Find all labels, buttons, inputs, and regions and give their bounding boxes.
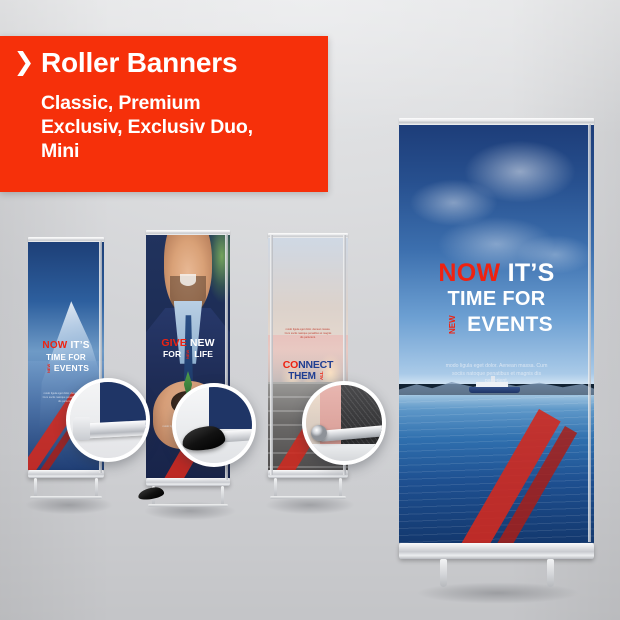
banner-headline-exclusiv: CONNECT THEMALL xyxy=(268,359,348,383)
header-subtitle-line-2: Exclusiv, Exclusiv Duo, xyxy=(41,115,326,139)
headline-word-now: NOW xyxy=(438,259,500,287)
headline-word-life: LIFE xyxy=(194,349,213,359)
ship-hull xyxy=(469,387,520,393)
headline-word-co: CO xyxy=(283,359,298,371)
top-rail xyxy=(399,118,594,125)
callout-cassette[interactable] xyxy=(66,378,150,462)
header-title-row: ❯ Roller Banners xyxy=(14,47,237,78)
sky-with-clouds xyxy=(399,125,594,384)
headline-word-now: NOW xyxy=(42,340,67,351)
base-cassette xyxy=(268,470,348,478)
headline-word-them: THEM xyxy=(288,371,316,382)
headline-line-time-for: TIME FOR xyxy=(399,287,594,312)
base-foot-bar xyxy=(270,496,346,499)
headline-vertical-new: NEW xyxy=(182,350,193,359)
base-foot-right xyxy=(221,486,224,506)
base-foot-left xyxy=(34,478,37,498)
banner-headline-large: NOW IT’S TIME FOR NEWEVENTS xyxy=(399,259,594,337)
page-title: Roller Banners xyxy=(41,47,237,78)
headline-word-give: GIVE xyxy=(161,337,187,349)
headline-word-events: EVENTS xyxy=(467,313,553,336)
header-subtitle-line-3: Mini xyxy=(41,139,326,163)
headline-line-time-for: TIME FOR xyxy=(28,352,104,363)
headline-word-its: IT’S xyxy=(508,259,555,287)
roller-banner-classic: NOW IT’S TIME FOR NEWEVENTS modo ligula … xyxy=(28,237,104,505)
base-foot-right xyxy=(95,478,98,498)
roller-banner-premium: GIVE NEW FORNEWLIFE modo ligula eget dol… xyxy=(146,230,230,512)
callout-black-foot[interactable] xyxy=(172,383,256,467)
base-foot-left xyxy=(274,478,277,498)
header-panel: ❯ Roller Banners Classic, Premium Exclus… xyxy=(0,36,328,192)
header-subtitle-line-1: Classic, Premium xyxy=(41,91,326,115)
roller-banner-product-image: ❯ Roller Banners Classic, Premium Exclus… xyxy=(0,0,620,620)
support-pole-left xyxy=(270,235,273,475)
base-foot-right xyxy=(339,478,342,498)
headline-vertical-all: ALL xyxy=(316,371,328,381)
base-cassette xyxy=(399,543,594,559)
banner-headline-classic: NOW IT’S TIME FOR NEWEVENTS xyxy=(28,340,104,374)
base-foot-bar xyxy=(148,504,228,507)
headline-vertical-new: NEW xyxy=(43,364,54,373)
base-foot-bar xyxy=(30,496,102,499)
callout-cassette-detail xyxy=(70,382,146,458)
base-cassette xyxy=(28,470,104,478)
banner-headline-premium: GIVE NEW FORNEWLIFE xyxy=(146,337,230,360)
callout-black-foot-detail xyxy=(176,387,252,463)
roller-banner-large: NOW IT’S TIME FOR NEWEVENTS modo ligula … xyxy=(399,118,594,588)
banner-body-text-large: modo ligula eget dolor. Aenean massa. Cu… xyxy=(399,363,594,386)
callout-floor xyxy=(306,444,382,461)
callout-chrome-foot[interactable] xyxy=(302,381,386,465)
headline-word-nnect: NNECT xyxy=(298,359,333,371)
headline-word-new: NEW xyxy=(190,337,215,349)
headline-vertical-new: NEW xyxy=(440,315,465,335)
header-subtitle: Classic, Premium Exclusiv, Exclusiv Duo,… xyxy=(41,91,326,163)
banner-artwork-large: NOW IT’S TIME FOR NEWEVENTS modo ligula … xyxy=(399,125,594,543)
base-cassette xyxy=(146,478,230,486)
base-foot-right xyxy=(547,559,554,587)
callout-navy-artwork xyxy=(209,387,252,429)
banner-body-text-exclusiv: modo ligula eget dolor. Aenean massa. Cu… xyxy=(268,328,348,339)
chevron-right-icon: ❯ xyxy=(14,47,34,77)
base-foot-left xyxy=(440,559,447,587)
rail-end-cap xyxy=(73,417,90,440)
headline-word-its: IT’S xyxy=(70,340,89,351)
headline-word-for: FOR xyxy=(163,349,181,359)
callout-chrome-foot-detail xyxy=(306,385,382,461)
black-support-foot xyxy=(137,486,165,501)
support-pole xyxy=(588,124,591,542)
headline-word-events: EVENTS xyxy=(54,363,89,373)
